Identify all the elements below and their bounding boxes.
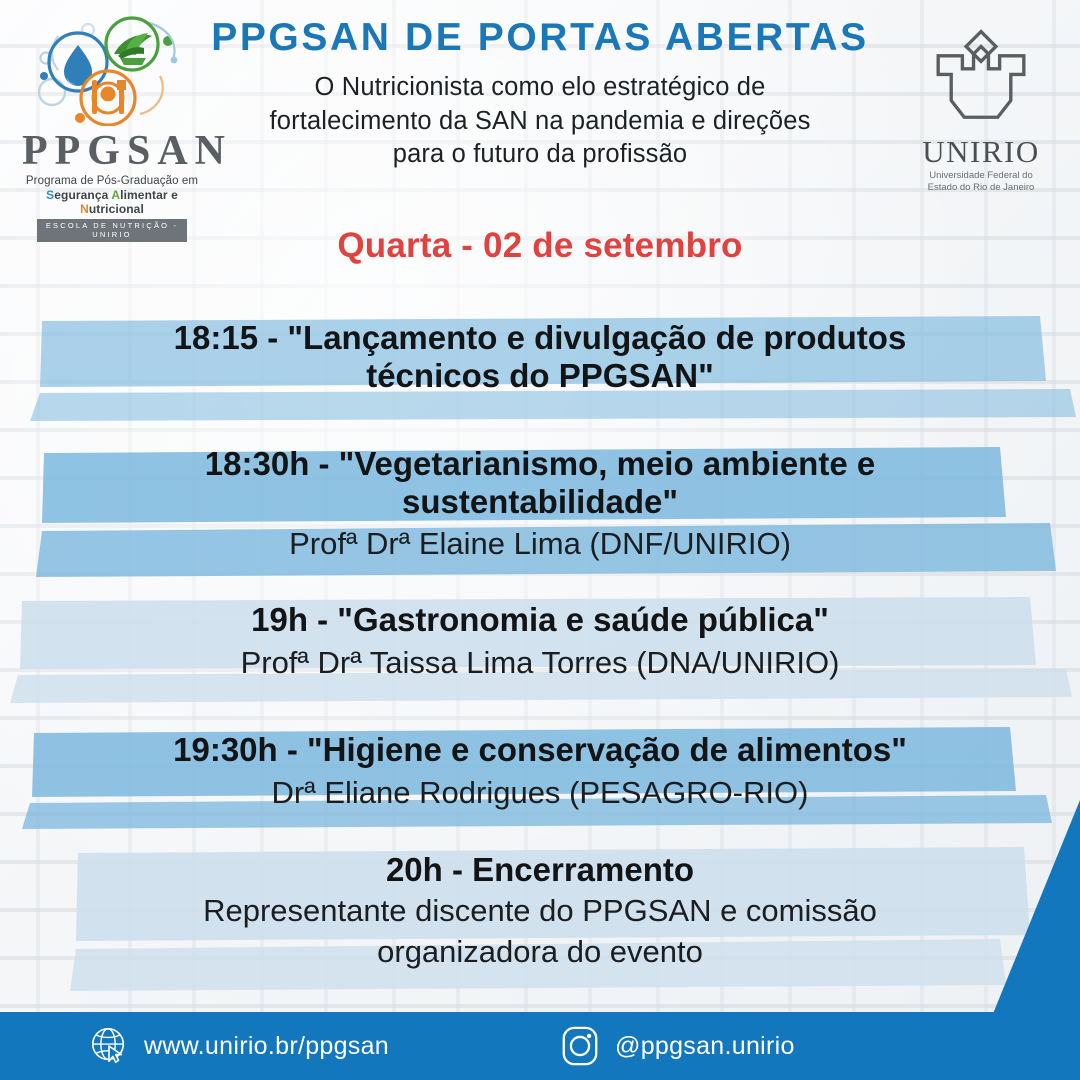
unirio-tagline: Universidade Federal do Estado do Rio de… xyxy=(906,170,1056,194)
unirio-logo: UNIRIO Universidade Federal do Estado do… xyxy=(906,26,1056,194)
ppgsan-tagline-line1: Programa de Pós-Graduação em xyxy=(22,175,202,187)
schedule-item-1-text: 18:15 - "Lançamento e divulgação de prod… xyxy=(0,305,1080,396)
poster-subtitle: O Nutricionista como elo estratégico de … xyxy=(200,71,880,172)
instagram-icon xyxy=(559,1025,601,1067)
unirio-tagline-line2: Estado do Rio de Janeiro xyxy=(906,182,1056,194)
schedule-item-1-title-line2: técnicos do PPGSAN" xyxy=(0,357,1080,395)
footer-website-label: www.unirio.br/ppgsan xyxy=(144,1032,389,1061)
schedule-item-4-speaker: Drª Eliane Rodrigues (PESAGRO-RIO) xyxy=(0,773,1080,813)
schedule-item-5-title: 20h - Encerramento xyxy=(0,839,1080,889)
plant-leaf-icon xyxy=(106,18,158,70)
plate-cutlery-icon xyxy=(81,71,135,125)
subtitle-line: fortalecimento da SAN na pandemia e dire… xyxy=(200,105,880,139)
footer-website-item[interactable]: www.unirio.br/ppgsan xyxy=(88,1025,389,1067)
footer-instagram-label: @ppgsan.unirio xyxy=(615,1032,795,1061)
schedule-list: 18:15 - "Lançamento e divulgação de prod… xyxy=(0,305,1080,1004)
schedule-item-5-text: 20h - Encerramento Representante discent… xyxy=(0,839,1080,973)
footer-instagram-item[interactable]: @ppgsan.unirio xyxy=(559,1025,795,1067)
ppgsan-tagline-line2: Segurança Alimentar e Nutricional xyxy=(22,188,202,216)
title-block: PPGSAN DE PORTAS ABERTAS O Nutricionista… xyxy=(200,18,880,172)
globe-cursor-icon xyxy=(88,1025,130,1067)
schedule-item-3-title: 19h - "Gastronomia e saúde pública" xyxy=(0,589,1080,639)
schedule-item-3: 19h - "Gastronomia e saúde pública" Prof… xyxy=(0,589,1080,719)
schedule-item-2-title-line2: sustentabilidade" xyxy=(0,483,1080,521)
unirio-tagline-line1: Universidade Federal do xyxy=(906,170,1056,182)
ppgsan-logo: PPGSAN Programa de Pós-Graduação em Segu… xyxy=(22,14,202,200)
schedule-item-2-title-line1: 18:30h - "Vegetarianismo, meio ambiente … xyxy=(0,423,1080,483)
schedule-item-5-speaker-line1: Representante discente do PPGSAN e comis… xyxy=(0,891,1080,932)
unirio-wordmark: UNIRIO xyxy=(906,136,1056,167)
ppgsan-wordmark: PPGSAN xyxy=(22,130,202,172)
schedule-item-5: 20h - Encerramento Representante discent… xyxy=(0,839,1080,1004)
subtitle-line: para o futuro da profissão xyxy=(200,138,880,172)
schedule-item-2-speaker: Profª Drª Elaine Lima (DNF/UNIRIO) xyxy=(0,524,1080,564)
schedule-item-3-text: 19h - "Gastronomia e saúde pública" Prof… xyxy=(0,589,1080,684)
schedule-item-1-title-line1: 18:15 - "Lançamento e divulgação de prod… xyxy=(0,305,1080,357)
poster-footer: www.unirio.br/ppgsan @ppgsan.unirio xyxy=(0,1012,1080,1080)
unirio-emblem-icon xyxy=(925,26,1037,134)
schedule-item-4-text: 19:30h - "Higiene e conservação de alime… xyxy=(0,719,1080,814)
schedule-item-2-text: 18:30h - "Vegetarianismo, meio ambiente … xyxy=(0,423,1080,564)
ppgsan-logo-emblem xyxy=(22,14,202,126)
schedule-item-5-speaker-line2: organizadora do evento xyxy=(0,932,1080,973)
schedule-item-2: 18:30h - "Vegetarianismo, meio ambiente … xyxy=(0,423,1080,589)
schedule-item-4-title: 19:30h - "Higiene e conservação de alime… xyxy=(0,719,1080,769)
poster-main-title: PPGSAN DE PORTAS ABERTAS xyxy=(200,18,880,59)
subtitle-line: O Nutricionista como elo estratégico de xyxy=(200,71,880,105)
poster-header: PPGSAN Programa de Pós-Graduação em Segu… xyxy=(0,0,1080,200)
date-heading: Quarta - 02 de setembro xyxy=(0,226,1080,266)
water-drop-icon xyxy=(49,33,107,91)
schedule-item-4: 19:30h - "Higiene e conservação de alime… xyxy=(0,719,1080,839)
schedule-item-1: 18:15 - "Lançamento e divulgação de prod… xyxy=(0,305,1080,423)
schedule-item-3-speaker: Profª Drª Taissa Lima Torres (DNA/UNIRIO… xyxy=(0,643,1080,683)
poster-canvas: PPGSAN Programa de Pós-Graduação em Segu… xyxy=(0,0,1080,1080)
